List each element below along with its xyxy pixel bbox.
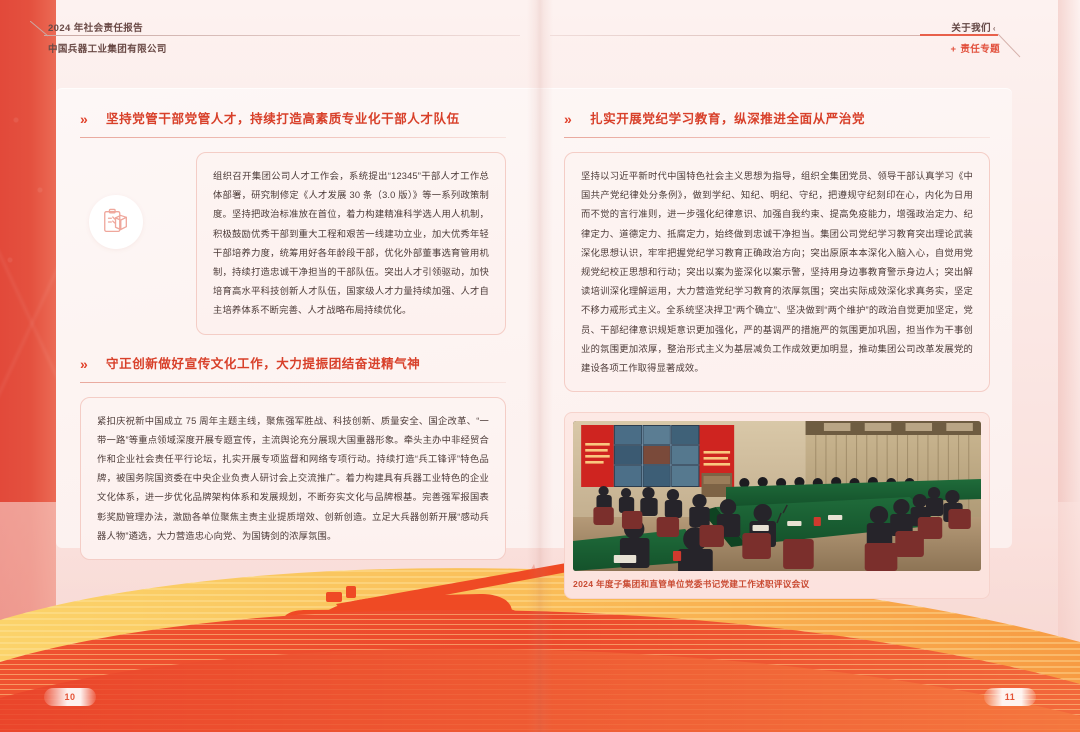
section-party-discipline: » 扎实开展党纪学习教育，纵深推进全面从严治党 坚持以习近平新时代中国特色社会主…: [564, 110, 990, 392]
city-skyline: [330, 594, 866, 706]
conference-photo: [573, 421, 981, 571]
clipboard-cube-icon: [89, 195, 143, 249]
binding-edge: [0, 0, 56, 732]
page-number-left: 10: [44, 688, 96, 706]
left-page-column: » 坚持党管干部党管人才，持续打造高素质专业化干部人才队伍: [56, 88, 532, 548]
section-title: 守正创新做好宣传文化工作，大力提振团结奋进精气神: [106, 355, 506, 373]
section-divider: [80, 382, 506, 383]
section-divider: [80, 137, 506, 138]
photo-caption: 2024 年度子集团和直管单位党委书记党建工作述职评议会议: [573, 578, 981, 590]
military-truck-silhouette: [132, 586, 258, 644]
header-accent-right: [920, 34, 998, 36]
section-body-text: 紧扣庆祝新中国成立 75 周年主题主线，聚焦强军胜战、科技创新、质量安全、国企改…: [97, 412, 489, 546]
nav-responsibility-topic-label: 责任专题: [960, 44, 1000, 55]
section-heading: » 扎实开展党纪学习教育，纵深推进全面从严治党: [564, 110, 990, 138]
right-page-column: » 扎实开展党纪学习教育，纵深推进全面从严治党 坚持以习近平新时代中国特色社会主…: [552, 88, 1012, 548]
double-chevron-icon: »: [564, 111, 569, 127]
header-rule-left: [44, 35, 520, 36]
conference-photo-frame: 2024 年度子集团和直管单位党委书记党建工作述职评议会议: [564, 412, 990, 599]
page-header: 2024 年社会责任报告 中国兵器工业集团有限公司 关于我们‹ +责任专题: [0, 0, 1080, 64]
section-body-card: 坚持以习近平新时代中国特色社会主义思想为指导，组织全集团党员、领导干部认真学习《…: [564, 152, 990, 392]
chevron-left-icon: ‹: [993, 24, 996, 33]
double-chevron-icon: »: [80, 356, 85, 372]
report-title: 2024 年社会责任报告: [48, 20, 143, 34]
content-sheet: » 坚持党管干部党管人才，持续打造高素质专业化干部人才队伍: [56, 88, 1012, 548]
section-body-text: 组织召开集团公司人才工作会，系统提出“12345”干部人才工作总体部署，研究制修…: [213, 167, 489, 321]
section-body-card: 组织召开集团公司人才工作会，系统提出“12345”干部人才工作总体部署，研究制修…: [196, 152, 506, 335]
header-tick-left-icon: [30, 21, 48, 37]
section-culture-publicity: » 守正创新做好宣传文化工作，大力提振团结奋进精气神 紧扣庆祝新中国成立 75 …: [80, 355, 506, 560]
section-title: 坚持党管干部党管人才，持续打造高素质专业化干部人才队伍: [106, 110, 506, 128]
nav-about-us[interactable]: 关于我们‹: [951, 20, 996, 34]
header-rule-right: [550, 35, 922, 36]
nav-about-us-label: 关于我们: [951, 23, 991, 34]
double-chevron-icon: »: [80, 111, 85, 127]
right-page-edge: [1058, 0, 1080, 732]
company-name: 中国兵器工业集团有限公司: [48, 41, 167, 55]
section-talent-management: » 坚持党管干部党管人才，持续打造高素质专业化干部人才队伍: [80, 110, 506, 335]
plus-icon: +: [950, 44, 956, 55]
section-title: 扎实开展党纪学习教育，纵深推进全面从严治党: [590, 110, 990, 128]
tank-silhouette: [282, 562, 578, 643]
page-spread: 2024 年社会责任报告 中国兵器工业集团有限公司 关于我们‹ +责任专题 » …: [0, 0, 1080, 732]
nav-responsibility-topic[interactable]: +责任专题: [950, 41, 1000, 55]
section-divider: [564, 137, 990, 138]
section-body-card: 紧扣庆祝新中国成立 75 周年主题主线，聚焦强军胜战、科技创新、质量安全、国企改…: [80, 397, 506, 560]
page-number-right: 11: [984, 688, 1036, 706]
section-heading: » 守正创新做好宣传文化工作，大力提振团结奋进精气神: [80, 355, 506, 383]
section-body-text: 坚持以习近平新时代中国特色社会主义思想为指导，组织全集团党员、领导干部认真学习《…: [581, 167, 973, 378]
section-heading: » 坚持党管干部党管人才，持续打造高素质专业化干部人才队伍: [80, 110, 506, 138]
